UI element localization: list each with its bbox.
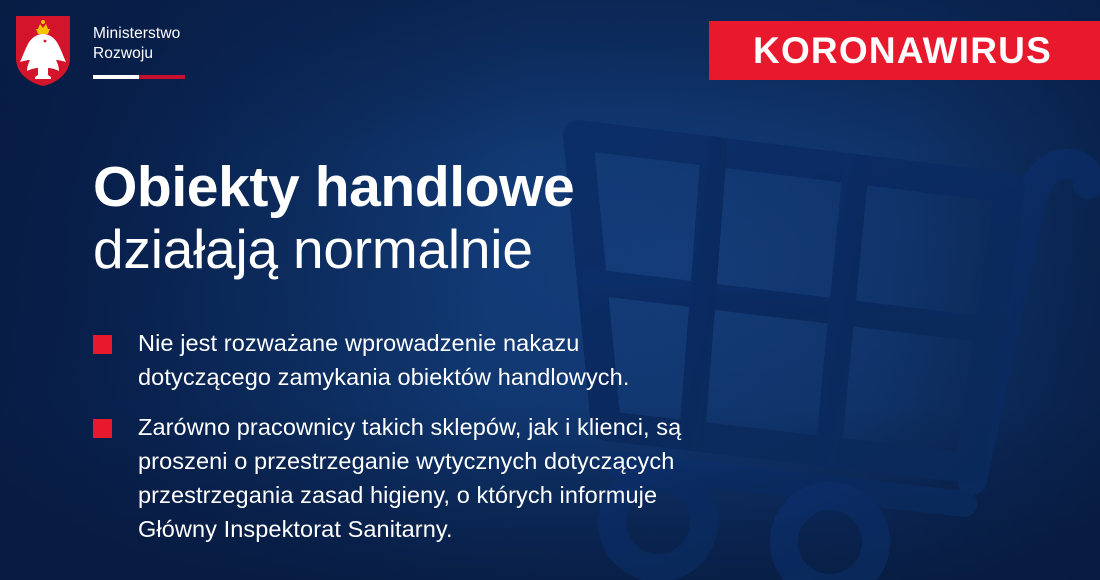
ministry-wordmark: Ministerstwo Rozwoju bbox=[93, 24, 218, 79]
ministry-line-2: Rozwoju bbox=[93, 44, 218, 64]
bullet-line: przestrzegania zasad higieny, o których … bbox=[138, 478, 681, 512]
ministry-line-1: Ministerstwo bbox=[93, 24, 218, 44]
koronawirus-banner: KORONAWIRUS bbox=[709, 21, 1100, 80]
page-title: Obiekty handlowe działają normalnie bbox=[93, 156, 713, 280]
bullet-line: Zarówno pracownicy takich sklepów, jak i… bbox=[138, 410, 681, 444]
bullet-text: Zarówno pracownicy takich sklepów, jak i… bbox=[138, 410, 681, 546]
bullet-line: Główny Inspektorat Sanitarny. bbox=[138, 512, 681, 546]
rule-red-half bbox=[139, 75, 185, 79]
bullet-text: Nie jest rozważane wprowadzenie nakazu d… bbox=[138, 326, 629, 394]
rule-white-half bbox=[93, 75, 139, 79]
bullet-line: dotyczącego zamykania obiektów handlowyc… bbox=[138, 360, 629, 394]
bullet-list: Nie jest rozważane wprowadzenie nakazu d… bbox=[93, 326, 793, 546]
ministry-rule bbox=[93, 75, 185, 79]
bullet-line: proszeni o przestrzeganie wytycznych dot… bbox=[138, 444, 681, 478]
koronawirus-label: KORONAWIRUS bbox=[753, 32, 1056, 69]
polish-coat-of-arms-icon bbox=[14, 14, 72, 88]
headline-line-2: działają normalnie bbox=[93, 218, 713, 280]
bullet-line: Nie jest rozważane wprowadzenie nakazu bbox=[138, 326, 629, 360]
headline-line-1: Obiekty handlowe bbox=[93, 156, 713, 218]
list-item: Nie jest rozważane wprowadzenie nakazu d… bbox=[93, 326, 793, 394]
poster-canvas: Ministerstwo Rozwoju KORONAWIRUS Obiekty… bbox=[0, 0, 1100, 580]
bullet-square-icon bbox=[93, 335, 112, 354]
bullet-square-icon bbox=[93, 419, 112, 438]
list-item: Zarówno pracownicy takich sklepów, jak i… bbox=[93, 410, 793, 546]
